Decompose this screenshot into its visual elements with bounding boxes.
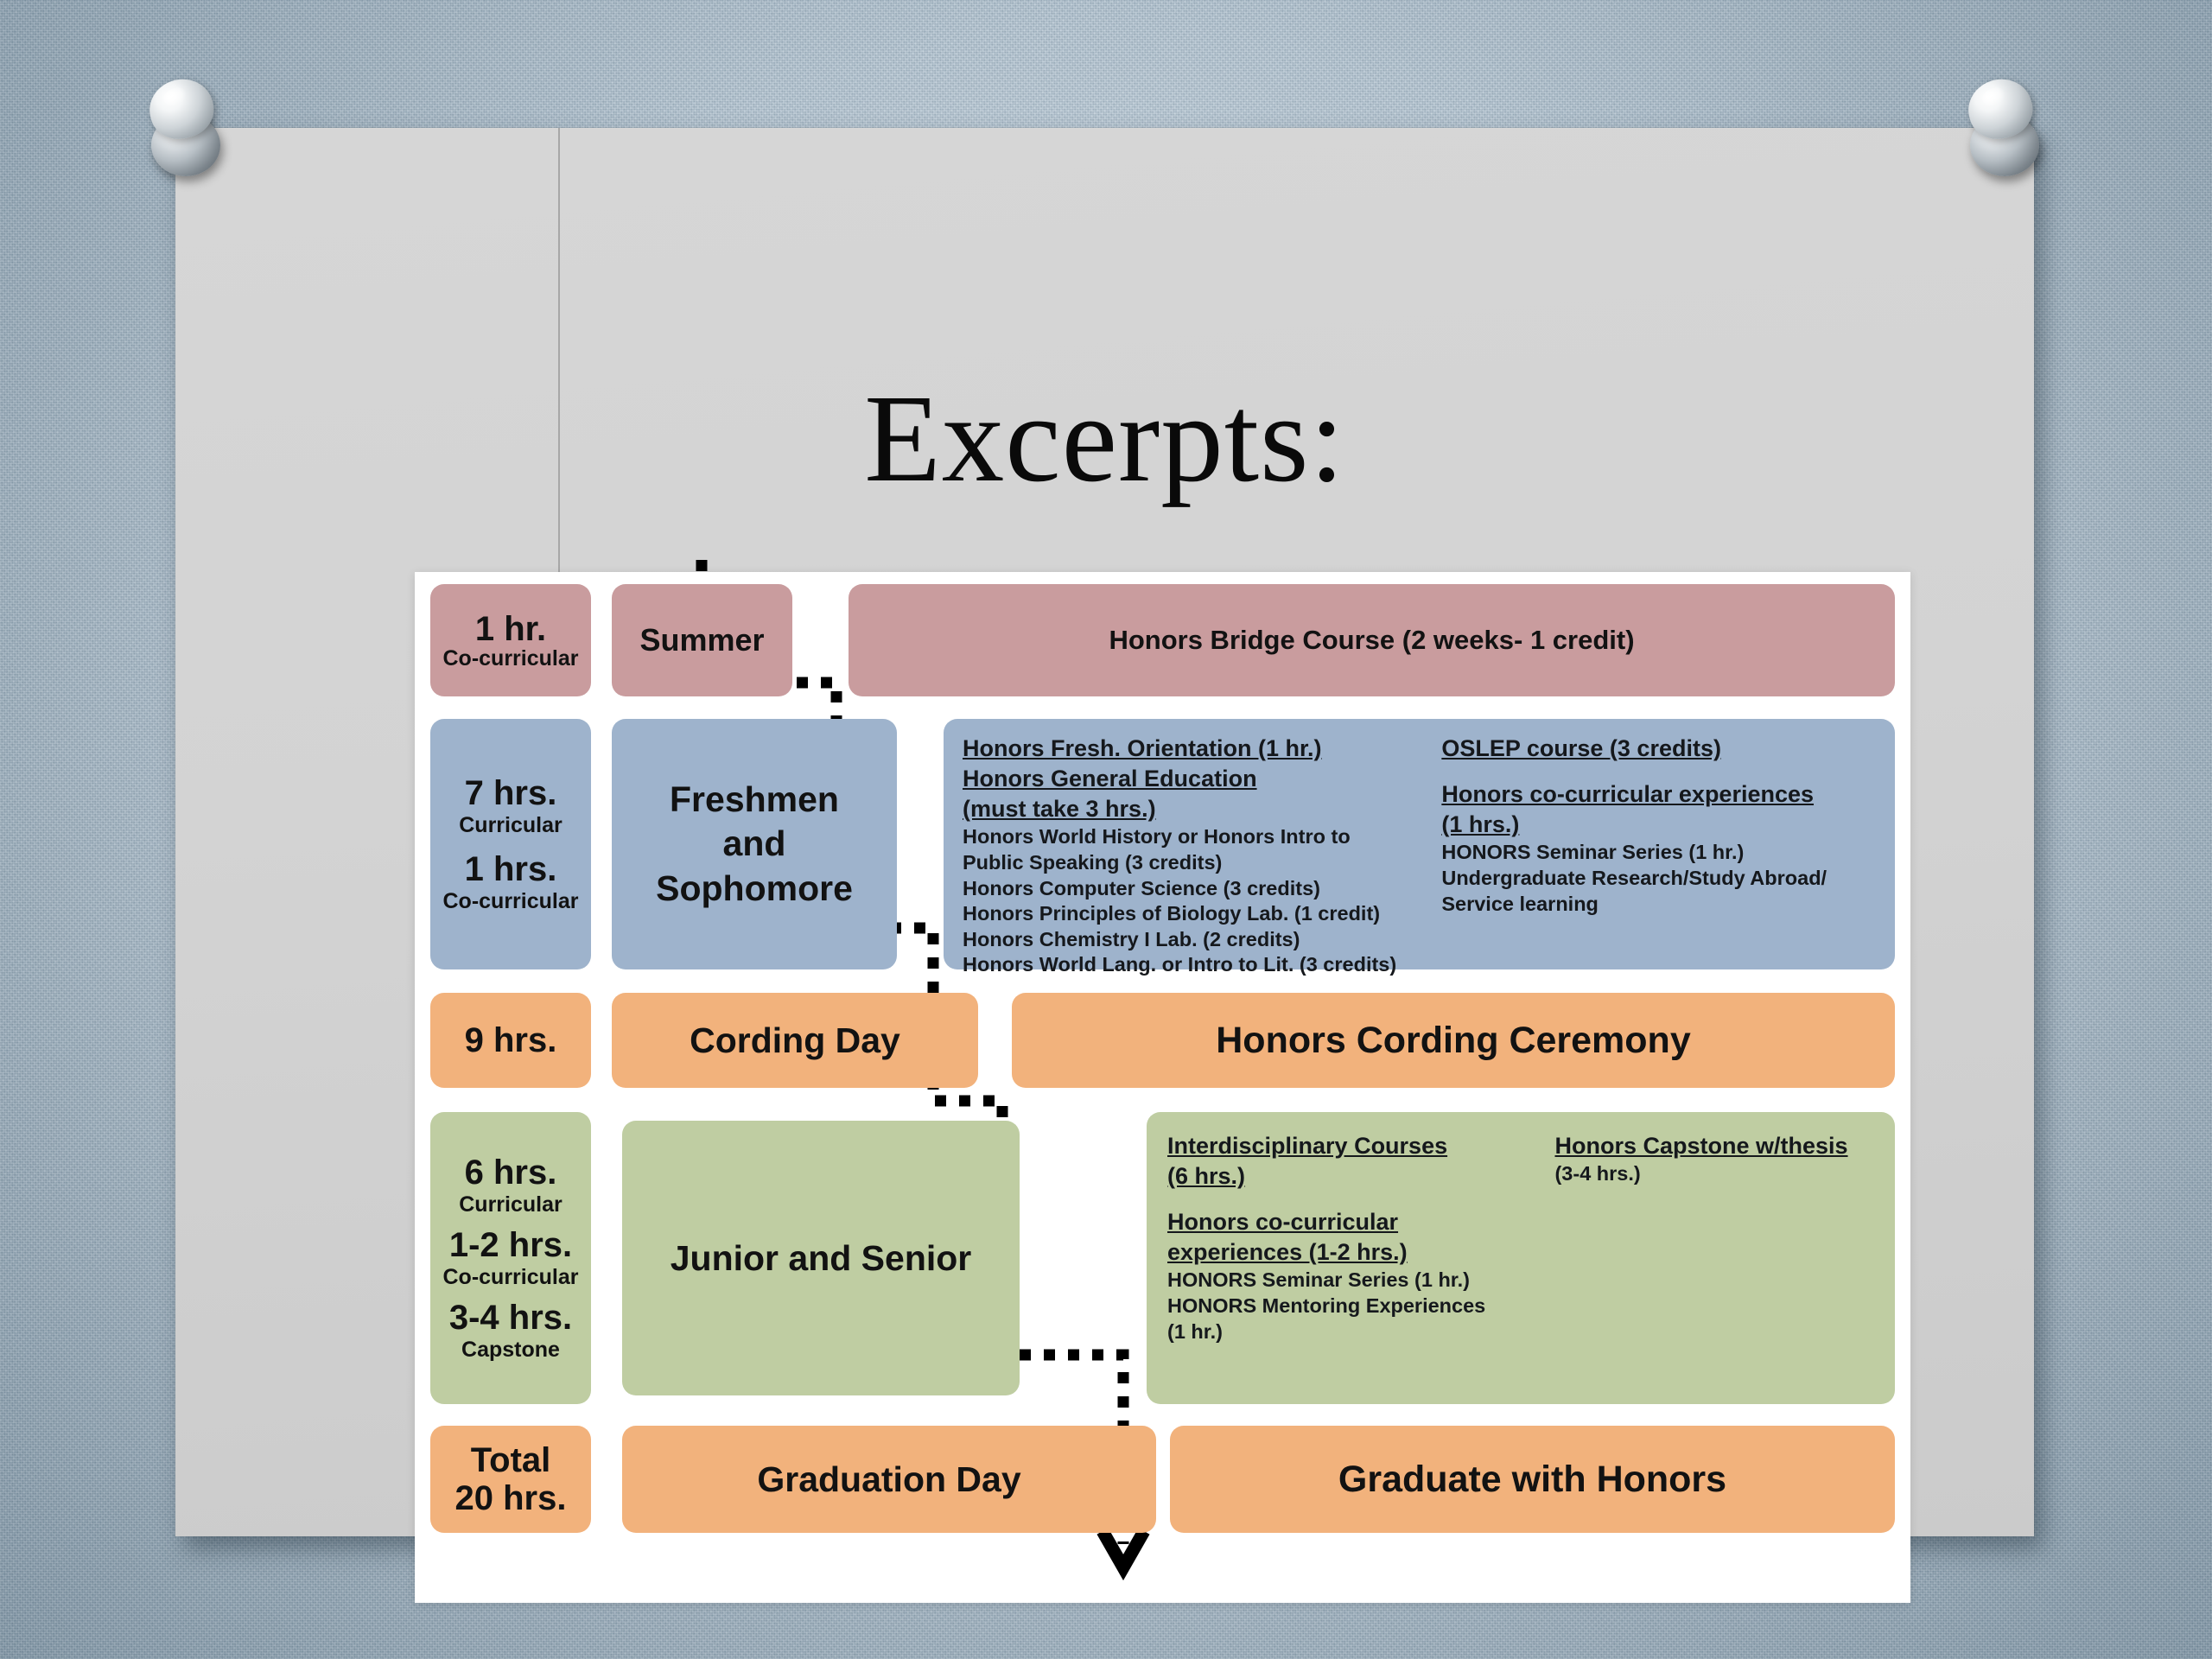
summer-stage-label: Summer [639, 622, 764, 658]
freshsoph-left-item-2: Honors Computer Science (3 credits) [963, 876, 1424, 902]
graduate-with-honors-label: Graduate with Honors [1338, 1459, 1726, 1501]
pushpin-left [144, 79, 241, 185]
juniorsenior-left-item-0: HONORS Seminar Series (1 hr.) [1167, 1268, 1541, 1294]
freshsoph-left-item-3: Honors Principles of Biology Lab. (1 cre… [963, 901, 1424, 927]
summer-hours-box: 1 hr. Co-curricular [430, 584, 591, 696]
juniorsenior-right-heading-1: Honors Capstone w/thesis [1554, 1131, 1878, 1161]
freshsoph-left-heading-3: (must take 3 hrs.) [963, 794, 1424, 824]
juniorsenior-hours-amount-3: 3-4 hrs. [449, 1299, 572, 1338]
freshsoph-left-item-4: Honors Chemistry I Lab. (2 credits) [963, 927, 1424, 953]
freshsoph-hours-amount-1: 7 hrs. [465, 774, 557, 813]
freshsoph-right-item-2: Service learning [1441, 892, 1878, 918]
honors-bridge-course-box: Honors Bridge Course (2 weeks- 1 credit) [849, 584, 1895, 696]
graduation-hours-box: Total 20 hrs. [430, 1426, 591, 1533]
freshsoph-detail-right-column: OSLEP course (3 credits) Honors co-curri… [1441, 734, 1878, 917]
juniorsenior-right-sub-1: (3-4 hrs.) [1554, 1161, 1878, 1187]
cording-day-box: Cording Day [612, 993, 978, 1088]
freshsoph-hours-box: 7 hrs. Curricular 1 hrs. Co-curricular [430, 719, 591, 969]
freshsoph-left-heading-2: Honors General Education [963, 764, 1424, 794]
freshsoph-right-heading-1: OSLEP course (3 credits) [1441, 734, 1878, 764]
juniorsenior-hours-box: 6 hrs. Curricular 1-2 hrs. Co-curricular… [430, 1112, 591, 1404]
freshsoph-right-item-1: Undergraduate Research/Study Abroad/ [1441, 866, 1878, 892]
freshsoph-right-heading-3: (1 hrs.) [1441, 810, 1878, 840]
juniorsenior-hours-amount-2: 1-2 hrs. [449, 1226, 572, 1265]
freshsoph-left-item-1: Public Speaking (3 credits) [963, 850, 1424, 876]
juniorsenior-left-spacer [1167, 1192, 1541, 1207]
freshsoph-stage-line-3: Sophomore [656, 867, 853, 911]
juniorsenior-left-heading-2: (6 hrs.) [1167, 1161, 1541, 1192]
honors-cording-ceremony-label: Honors Cording Ceremony [1216, 1020, 1691, 1062]
juniorsenior-left-item-2: (1 hr.) [1167, 1319, 1541, 1345]
summer-hours-type: Co-curricular [443, 647, 579, 670]
juniorsenior-detail-box: Interdisciplinary Courses (6 hrs.) Honor… [1147, 1112, 1895, 1404]
juniorsenior-hours-type-1: Curricular [459, 1192, 562, 1217]
freshsoph-left-heading-1: Honors Fresh. Orientation (1 hr.) [963, 734, 1424, 764]
presentation-slide: Excerpts: 1 hr. Co-curricular Summer Hon… [175, 128, 2034, 1536]
freshsoph-stage-box: Freshmen and Sophomore [612, 719, 897, 969]
summer-hours-amount: 1 hr. [475, 611, 546, 647]
freshsoph-left-item-0: Honors World History or Honors Intro to [963, 824, 1424, 850]
juniorsenior-detail-right-column: Honors Capstone w/thesis (3-4 hrs.) [1554, 1131, 1878, 1187]
juniorsenior-hours-amount-1: 6 hrs. [465, 1154, 557, 1192]
juniorsenior-hours-type-3: Capstone [461, 1338, 560, 1363]
juniorsenior-left-heading-4: experiences (1-2 hrs.) [1167, 1237, 1541, 1268]
graduation-day-label: Graduation Day [757, 1459, 1020, 1500]
freshsoph-stage-line-1: Freshmen [670, 778, 839, 822]
juniorsenior-stage-box: Junior and Senior [622, 1121, 1020, 1395]
graduate-with-honors-box: Graduate with Honors [1170, 1426, 1895, 1533]
freshsoph-right-heading-2: Honors co-curricular experiences [1441, 779, 1878, 810]
freshsoph-detail-left-column: Honors Fresh. Orientation (1 hr.) Honors… [963, 734, 1424, 978]
juniorsenior-left-heading-3: Honors co-curricular [1167, 1207, 1541, 1237]
freshsoph-detail-box: Honors Fresh. Orientation (1 hr.) Honors… [944, 719, 1895, 969]
honors-cording-ceremony-box: Honors Cording Ceremony [1012, 993, 1895, 1088]
freshsoph-hours-amount-2: 1 hrs. [465, 850, 557, 889]
freshsoph-hours-type-2: Co-curricular [443, 889, 579, 914]
freshsoph-stage-line-2: and [723, 822, 786, 866]
pushpin-right [1963, 79, 2060, 185]
juniorsenior-hours-type-2: Co-curricular [443, 1265, 579, 1290]
juniorsenior-left-item-1: HONORS Mentoring Experiences [1167, 1294, 1541, 1319]
juniorsenior-detail-left-column: Interdisciplinary Courses (6 hrs.) Honor… [1167, 1131, 1541, 1344]
diagram-card: 1 hr. Co-curricular Summer Honors Bridge… [415, 572, 1910, 1603]
page-title: Excerpts: [175, 377, 2034, 502]
freshsoph-hours-type-1: Curricular [459, 813, 562, 838]
graduation-total-label: Total [471, 1441, 551, 1479]
cording-day-label: Cording Day [690, 1020, 900, 1061]
cording-hours-box: 9 hrs. [430, 993, 591, 1088]
honors-bridge-course-label: Honors Bridge Course (2 weeks- 1 credit) [1109, 625, 1634, 656]
graduation-total-hours: 20 hrs. [455, 1479, 567, 1517]
juniorsenior-left-heading-1: Interdisciplinary Courses [1167, 1131, 1541, 1161]
juniorsenior-stage-label: Junior and Senior [671, 1238, 972, 1279]
freshsoph-left-item-5: Honors World Lang. or Intro to Lit. (3 c… [963, 952, 1424, 978]
graduation-day-box: Graduation Day [622, 1426, 1156, 1533]
summer-stage-box: Summer [612, 584, 792, 696]
freshsoph-right-spacer [1441, 764, 1878, 779]
freshsoph-right-item-0: HONORS Seminar Series (1 hr.) [1441, 840, 1878, 866]
cording-hours-amount: 9 hrs. [465, 1021, 557, 1060]
